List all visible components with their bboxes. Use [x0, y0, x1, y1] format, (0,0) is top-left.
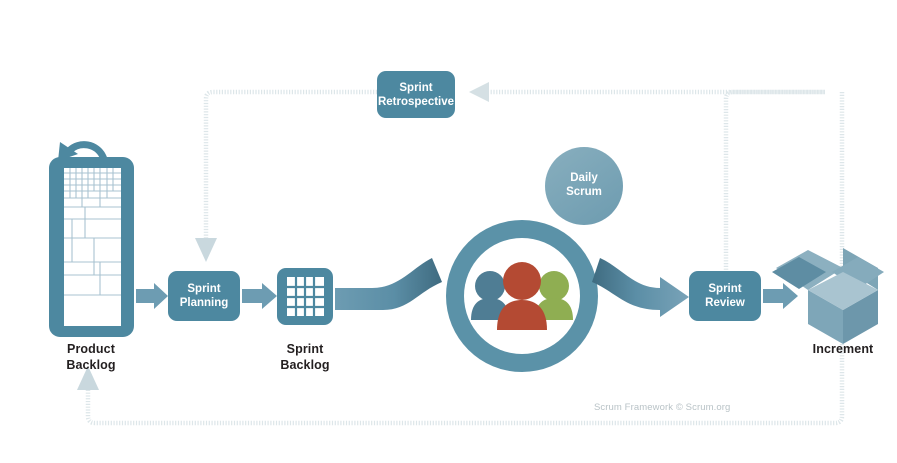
scrum-team-node[interactable]: 1 Scrum Team: [446, 220, 598, 403]
connector-backlog-to-planning: [136, 283, 168, 309]
daily-scrum-node[interactable]: [545, 147, 623, 225]
credit-text: Scrum Framework © Scrum.org: [594, 402, 730, 413]
sprint-backlog-node[interactable]: [277, 268, 333, 325]
sprint-planning-node[interactable]: [168, 271, 240, 321]
sprint-backlog-label: Sprint Backlog: [245, 342, 365, 373]
product-backlog-node[interactable]: [49, 142, 134, 337]
diagram-canvas: 1 Scrum Team: [0, 0, 897, 463]
scrum-framework-diagram: 1 Scrum Team: [0, 0, 897, 463]
connector-review-to-increment: [763, 283, 798, 309]
scrum-team-arc-label: 1 Scrum Team: [476, 374, 568, 403]
increment-label: Increment: [783, 342, 897, 358]
connector-planning-to-sprint-backlog: [242, 283, 277, 309]
sprint-retrospective-node[interactable]: [377, 71, 455, 118]
three-people-icon: [471, 262, 573, 330]
sprint-review-node[interactable]: [689, 271, 761, 321]
connector-sprint-backlog-to-team: [335, 258, 442, 310]
connector-retrospective-to-planning: [195, 92, 377, 262]
product-backlog-label: Product Backlog: [31, 342, 151, 373]
connector-team-to-review: [592, 258, 689, 317]
